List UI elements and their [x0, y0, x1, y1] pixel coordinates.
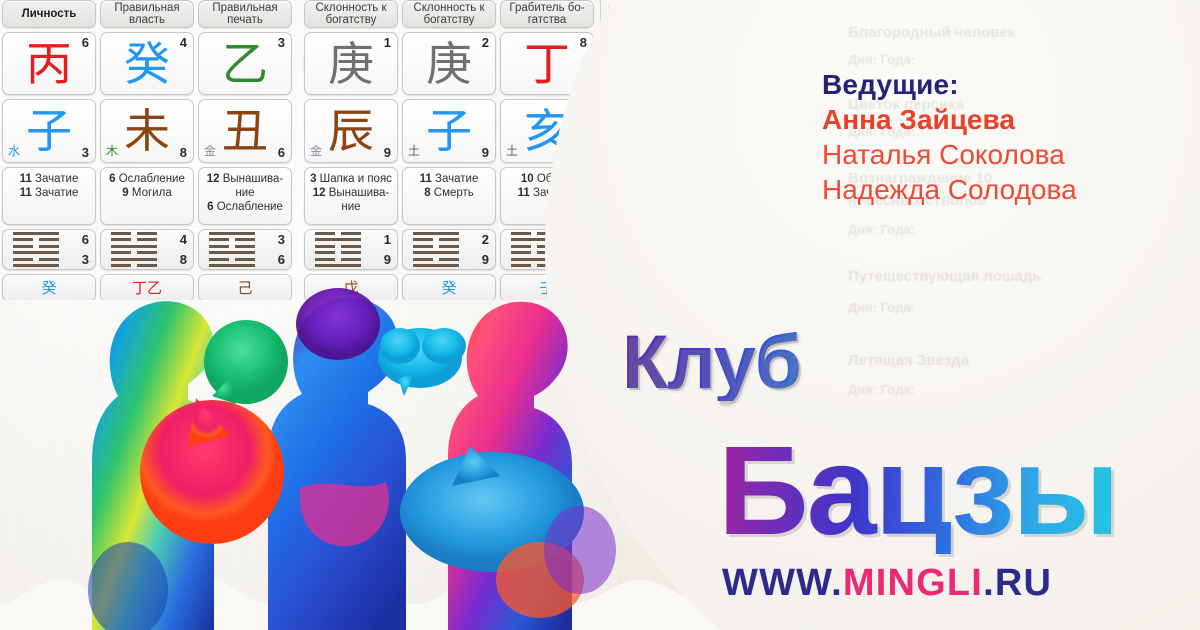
- pillar-header: Правильная печать: [198, 0, 292, 28]
- ghost-text-line: Дня: Года:: [848, 52, 915, 67]
- hosts-label: Ведущие:: [822, 68, 1200, 102]
- note-line: 3 Шапка и пояс: [308, 172, 394, 186]
- branch-strength-number: 6: [278, 145, 285, 160]
- hosts-block: Ведущие: Анна Зайцева Наталья Соколова Н…: [822, 68, 1200, 207]
- ghost-text-line: Благородный человек: [848, 24, 1015, 41]
- heavenly-stem-cell[interactable]: 庚1: [304, 32, 398, 95]
- note-line: 9 Могила: [104, 186, 190, 200]
- heavenly-stem-cell[interactable]: 乙3: [198, 32, 292, 95]
- branch-strength-number: 9: [384, 145, 391, 160]
- host-name-2: Наталья Соколова: [822, 137, 1200, 172]
- earthly-branch-cell[interactable]: 子土9: [402, 99, 496, 162]
- earthly-branch-cell[interactable]: 丑金6: [198, 99, 292, 162]
- heavenly-stem-cell[interactable]: 庚2: [402, 32, 496, 95]
- note-line: 6 Ослабление: [104, 172, 190, 186]
- ghost-text-line: Путешествующая лошадь: [848, 268, 1042, 285]
- earthly-branch-cell[interactable]: 辰金9: [304, 99, 398, 162]
- stem-strength-number: 8: [580, 35, 587, 50]
- stem-strength-number: 2: [482, 35, 489, 50]
- note-line: 6 Ослабление: [202, 200, 288, 214]
- pillar-notes: 11 Зачатие11 Зачатие: [2, 167, 96, 225]
- note-line: ние: [202, 186, 288, 200]
- pillar-notes: 12 Вынашива-ние6 Ослабление: [198, 167, 292, 225]
- stem-strength-number: 3: [278, 35, 285, 50]
- hexagram-top-number: 6: [82, 232, 89, 247]
- host-name-3: Надежда Солодова: [822, 172, 1200, 207]
- title-line-1: Клуб: [622, 325, 801, 401]
- ghost-text-line: Дня: Года:: [848, 300, 915, 315]
- ghost-text-line: Дня: Года:: [848, 382, 915, 397]
- title-line-2: Бацзы: [718, 428, 1118, 554]
- branch-glyph: 丑: [222, 108, 268, 154]
- branch-element-glyph: 水: [8, 142, 20, 159]
- stem-glyph: 庚: [328, 41, 374, 87]
- earthly-branch-cell[interactable]: 子水3: [2, 99, 96, 162]
- earthly-branch-cell[interactable]: 未木8: [100, 99, 194, 162]
- note-line: 8 Смерть: [406, 186, 492, 200]
- branch-glyph: 辰: [328, 108, 374, 154]
- stem-strength-number: 1: [384, 35, 391, 50]
- ghost-text-line: Летящая Звезда: [848, 352, 969, 369]
- hexagram-top-number: 3: [278, 232, 285, 247]
- branch-element-glyph: 土: [506, 142, 518, 159]
- stem-glyph: 丁: [524, 41, 570, 87]
- stem-glyph: 丙: [26, 41, 72, 87]
- note-line: 11 Зачатие: [6, 172, 92, 186]
- watercolor-people-illustration: [0, 250, 640, 630]
- hexagram-top-number: 2: [482, 232, 489, 247]
- hexagram-top-number: 1: [384, 232, 391, 247]
- branch-element-glyph: 土: [408, 142, 420, 159]
- url-part-www: WWW.: [722, 562, 843, 604]
- pillar-notes: 6 Ослабление9 Могила: [100, 167, 194, 225]
- stem-glyph: 乙: [222, 41, 268, 87]
- note-line: 12 Вынашива-: [202, 172, 288, 186]
- branch-strength-number: 9: [482, 145, 489, 160]
- host-name-1: Анна Зайцева: [822, 102, 1200, 137]
- branch-strength-number: 8: [180, 145, 187, 160]
- note-line: 11 Зачатие: [6, 186, 92, 200]
- branch-glyph: 子: [26, 108, 72, 154]
- stem-glyph: 庚: [426, 41, 472, 87]
- stem-glyph: 癸: [124, 41, 170, 87]
- heavenly-stem-cell[interactable]: 癸4: [100, 32, 194, 95]
- branch-element-glyph: 金: [204, 142, 216, 159]
- website-url[interactable]: WWW.MINGLI.RU: [722, 562, 1052, 605]
- heavenly-stem-cell[interactable]: 丙6: [2, 32, 96, 95]
- branch-glyph: 未: [124, 108, 170, 154]
- branch-element-glyph: 金: [310, 142, 322, 159]
- branch-element-glyph: 木: [106, 142, 118, 159]
- pillar-header: Склонность к богатству: [402, 0, 496, 28]
- note-line: 11 Зачатие: [406, 172, 492, 186]
- url-part-tld: .RU: [983, 562, 1052, 604]
- pillar-notes: 11 Зачатие8 Смерть: [402, 167, 496, 225]
- note-line: ние: [308, 200, 394, 214]
- pillar-header: Личность: [2, 0, 96, 28]
- pillar-notes: 3 Шапка и пояс12 Вынашива-ние: [304, 167, 398, 225]
- stem-strength-number: 6: [82, 35, 89, 50]
- pillar-header: Правильная власть: [100, 0, 194, 28]
- poster-canvas: Личность丙6子水311 Зачатие11 Зачатие63癸Прав…: [0, 0, 1200, 630]
- stem-strength-number: 4: [180, 35, 187, 50]
- branch-strength-number: 3: [82, 145, 89, 160]
- hexagram-top-number: 4: [180, 232, 187, 247]
- branch-glyph: 子: [426, 108, 472, 154]
- pillar-header: Грабитель бо-гатства: [500, 0, 594, 28]
- url-part-domain: MINGLI: [843, 562, 983, 604]
- ghost-text-line: Дня: Года:: [848, 222, 915, 237]
- note-line: 12 Вынашива-: [308, 186, 394, 200]
- pillar-header: Склонность к богатству: [304, 0, 398, 28]
